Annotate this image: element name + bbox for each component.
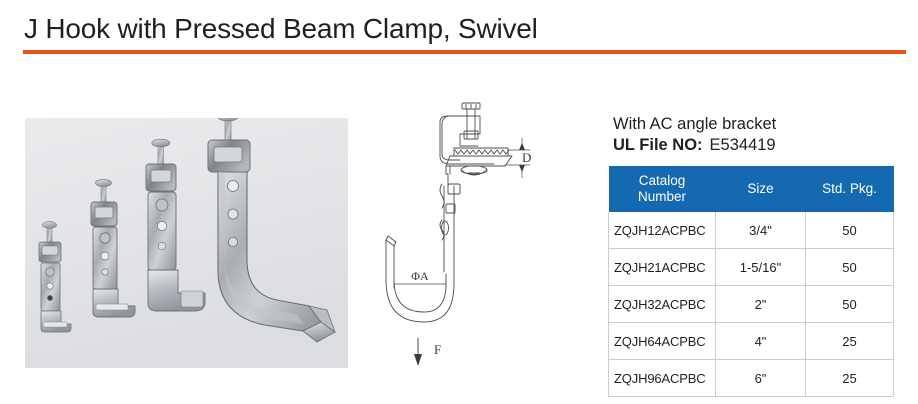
cell-std-pkg: 25 bbox=[806, 323, 894, 360]
ul-file-line: UL File NO:E534419 bbox=[613, 135, 903, 156]
cell-size: 2" bbox=[716, 286, 806, 323]
technical-drawing: D ΦA F bbox=[362, 100, 612, 380]
product-photo bbox=[25, 118, 348, 368]
table-row: ZQJH21ACPBC 1-5/16" 50 bbox=[609, 249, 894, 286]
dimension-label-d: D bbox=[522, 150, 531, 165]
column-header-std-pkg: Std. Pkg. bbox=[806, 166, 894, 212]
product-photo-image bbox=[25, 118, 348, 368]
technical-drawing-svg: D ΦA F bbox=[362, 100, 612, 380]
table-row: ZQJH64ACPBC 4" 25 bbox=[609, 323, 894, 360]
table-header-row: Catalog Number Size Std. Pkg. bbox=[609, 166, 894, 212]
page-title: J Hook with Pressed Beam Clamp, Swivel bbox=[24, 13, 538, 45]
product-spec-table: Catalog Number Size Std. Pkg. ZQJH12ACPB… bbox=[608, 166, 894, 397]
ul-file-label: UL File NO: bbox=[613, 136, 703, 154]
cell-size: 3/4" bbox=[716, 212, 806, 249]
dimension-label-diameter: ΦA bbox=[411, 269, 429, 283]
dimension-label-force: F bbox=[434, 342, 441, 357]
cell-size: 6" bbox=[716, 360, 806, 397]
bracket-note: With AC angle bracket bbox=[613, 114, 903, 135]
cell-catalog-number: ZQJH12ACPBC bbox=[609, 212, 716, 249]
cell-std-pkg: 50 bbox=[806, 249, 894, 286]
cell-std-pkg: 25 bbox=[806, 360, 894, 397]
column-header-catalog-line1: Catalog bbox=[639, 173, 686, 188]
ul-file-value: E534419 bbox=[710, 136, 776, 154]
column-header-size: Size bbox=[716, 166, 806, 212]
cell-catalog-number: ZQJH21ACPBC bbox=[609, 249, 716, 286]
cell-std-pkg: 50 bbox=[806, 286, 894, 323]
spec-notes: With AC angle bracket UL File NO:E534419 bbox=[613, 114, 903, 156]
column-header-catalog-number: Catalog Number bbox=[609, 166, 716, 212]
title-accent-rule bbox=[23, 50, 906, 54]
cell-size: 1-5/16" bbox=[716, 249, 806, 286]
cell-catalog-number: ZQJH32ACPBC bbox=[609, 286, 716, 323]
table-row: ZQJH96ACPBC 6" 25 bbox=[609, 360, 894, 397]
cell-catalog-number: ZQJH64ACPBC bbox=[609, 323, 716, 360]
cell-catalog-number: ZQJH96ACPBC bbox=[609, 360, 716, 397]
table-row: ZQJH12ACPBC 3/4" 50 bbox=[609, 212, 894, 249]
cell-size: 4" bbox=[716, 323, 806, 360]
cell-std-pkg: 50 bbox=[806, 212, 894, 249]
column-header-catalog-line2: Number bbox=[638, 189, 686, 204]
table-row: ZQJH32ACPBC 2" 50 bbox=[609, 286, 894, 323]
